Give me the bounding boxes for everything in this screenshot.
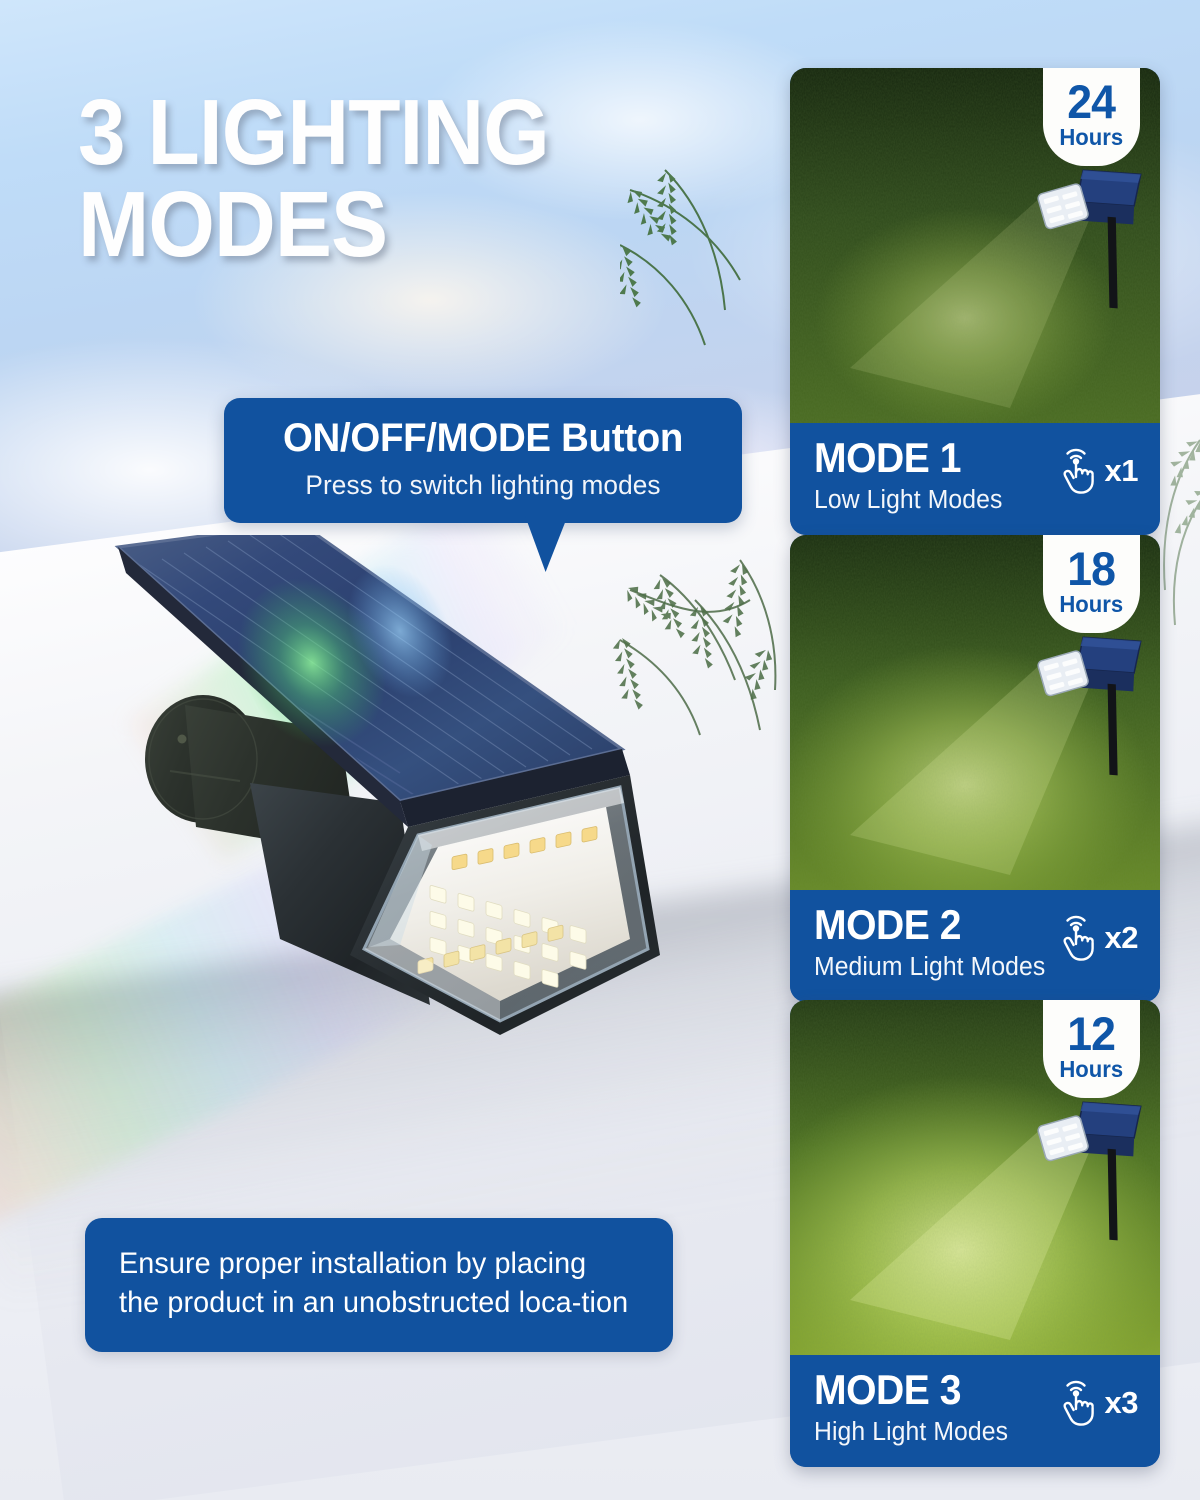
callout-title: ON/OFF/MODE Button: [255, 418, 710, 460]
hours-badge: 12 Hours: [1043, 1000, 1140, 1098]
callout-subtitle: Press to switch lighting modes: [253, 470, 713, 501]
product-infographic: 3 LIGHTING MODES ON/OFF/MODE Button Pres…: [0, 0, 1200, 1500]
button-callout: ON/OFF/MODE Button Press to switch light…: [224, 398, 742, 523]
tap-count: x1: [1105, 453, 1138, 489]
hours-label: Hours: [1060, 1058, 1124, 1081]
tap-count: x2: [1105, 920, 1138, 956]
tap-hand-icon: [1052, 912, 1100, 964]
hours-badge: 18 Hours: [1043, 535, 1140, 633]
installation-note-text: Ensure proper installation by placing th…: [119, 1244, 630, 1322]
tap-indicator: x2: [1052, 912, 1138, 964]
mode-footer: MODE 2 Medium Light Modes x2: [790, 890, 1160, 1002]
hours-value: 18: [1068, 546, 1116, 591]
mode-card[interactable]: 12 Hours MODE 3 High Light Modes: [790, 1000, 1160, 1467]
mode-footer: MODE 1 Low Light Modes x1: [790, 423, 1160, 535]
mode-photo: 24 Hours: [790, 68, 1160, 423]
solar-light-product-image: [100, 535, 740, 1075]
hours-value: 24: [1068, 79, 1116, 124]
mode-card[interactable]: 24 Hours MODE 1 Low Light Modes: [790, 68, 1160, 535]
mode-footer: MODE 3 High Light Modes x3: [790, 1355, 1160, 1467]
mode-photo: 18 Hours: [790, 535, 1160, 890]
installation-note: Ensure proper installation by placing th…: [85, 1218, 673, 1352]
page-title: 3 LIGHTING MODES: [78, 86, 685, 270]
hours-label: Hours: [1060, 126, 1124, 149]
title-line-2: MODES: [78, 178, 685, 270]
tap-indicator: x3: [1052, 1377, 1138, 1429]
tap-hand-icon: [1052, 445, 1100, 497]
title-line-1: 3 LIGHTING: [78, 80, 549, 184]
mode-photo: 12 Hours: [790, 1000, 1160, 1355]
hours-value: 12: [1068, 1011, 1116, 1056]
mode-card[interactable]: 18 Hours MODE 2 Medium Light Modes: [790, 535, 1160, 1002]
tap-hand-icon: [1052, 1377, 1100, 1429]
tap-count: x3: [1105, 1385, 1138, 1421]
hours-label: Hours: [1060, 593, 1124, 616]
tap-indicator: x1: [1052, 445, 1138, 497]
hours-badge: 24 Hours: [1043, 68, 1140, 166]
